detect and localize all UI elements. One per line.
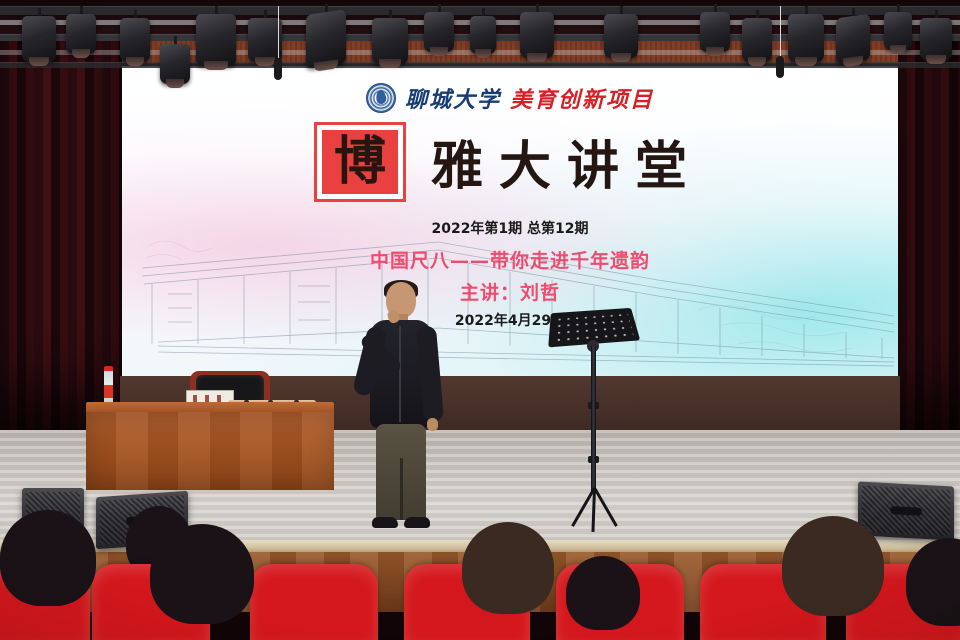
presenter-left-shoe: [372, 517, 398, 528]
university-name: 聊城大学: [405, 82, 501, 114]
stage-light-4: [196, 6, 236, 68]
stage-light-1: [22, 8, 56, 64]
stage-light-8: [424, 4, 454, 54]
stage-light-18: [160, 36, 190, 86]
presenter: [362, 282, 438, 534]
presenter-right-hand: [427, 418, 438, 431]
music-stand-pole: [591, 346, 596, 492]
project-name: 美育创新项目: [510, 82, 654, 114]
seal-character: 博: [334, 136, 386, 188]
stage-light-17: [920, 10, 952, 62]
lecture-hall-photo: 聊城大学 美育创新项目 博 雅大讲堂 2022年第1期 总第12期 中国尺八——…: [0, 0, 960, 640]
stage-curtain-right: [898, 30, 960, 430]
stage-light-12: [700, 4, 730, 54]
slide-content: 聊城大学 美育创新项目 博 雅大讲堂 2022年第1期 总第12期 中国尺八——…: [120, 66, 900, 376]
university-emblem-icon: [366, 83, 396, 113]
stage-light-3: [120, 10, 150, 64]
stage-light-2: [66, 6, 96, 56]
stage-light-9: [470, 8, 496, 56]
presenter-shirt-placket: [399, 326, 401, 422]
audience-head-front-2: [150, 524, 254, 624]
floor-monitor-right: [858, 481, 954, 540]
water-bottle-label: [104, 385, 113, 398]
presentation-table: [86, 412, 334, 490]
stage-light-11: [604, 6, 638, 60]
slide-title-row: 博 雅大讲堂: [120, 124, 900, 199]
stage-light-16: [884, 4, 912, 52]
slide-header-row: 聊城大学 美育创新项目: [120, 82, 900, 114]
audience-seat-2: [250, 564, 378, 640]
stage-light-5: [248, 10, 282, 64]
stage-light-14: [788, 6, 824, 64]
audience-head-front-1: [0, 510, 96, 606]
slide-topic-line: 中国尺八——带你走进千年遗韵: [120, 246, 900, 273]
slide-issue-line: 2022年第1期 总第12期: [120, 218, 900, 238]
audience-head-front-4: [566, 556, 640, 630]
slide-date-line: 2022年4月29日: [120, 310, 900, 330]
stage-light-10: [520, 4, 554, 60]
stage-light-6: [306, 4, 346, 68]
presenter-right-shoe: [404, 517, 430, 528]
stage-light-15: [836, 8, 870, 64]
slide-main-title: 雅大讲堂: [431, 124, 703, 199]
stage-light-13: [742, 10, 772, 64]
presenter-leg-gap: [400, 458, 403, 520]
music-stand-leg-left: [593, 487, 618, 527]
audience-head-front-3: [462, 522, 554, 614]
music-stand-leg-center: [591, 488, 596, 532]
music-stand: [540, 306, 650, 534]
seal-stamp-icon: 博: [317, 125, 403, 199]
water-bottle-cap: [104, 366, 113, 371]
audience-head-front-5: [782, 516, 884, 616]
stage-light-7: [372, 10, 408, 66]
slide-speaker-line: 主讲：刘哲: [120, 278, 900, 305]
projection-screen: 聊城大学 美育创新项目 博 雅大讲堂 2022年第1期 总第12期 中国尺八——…: [120, 66, 900, 376]
